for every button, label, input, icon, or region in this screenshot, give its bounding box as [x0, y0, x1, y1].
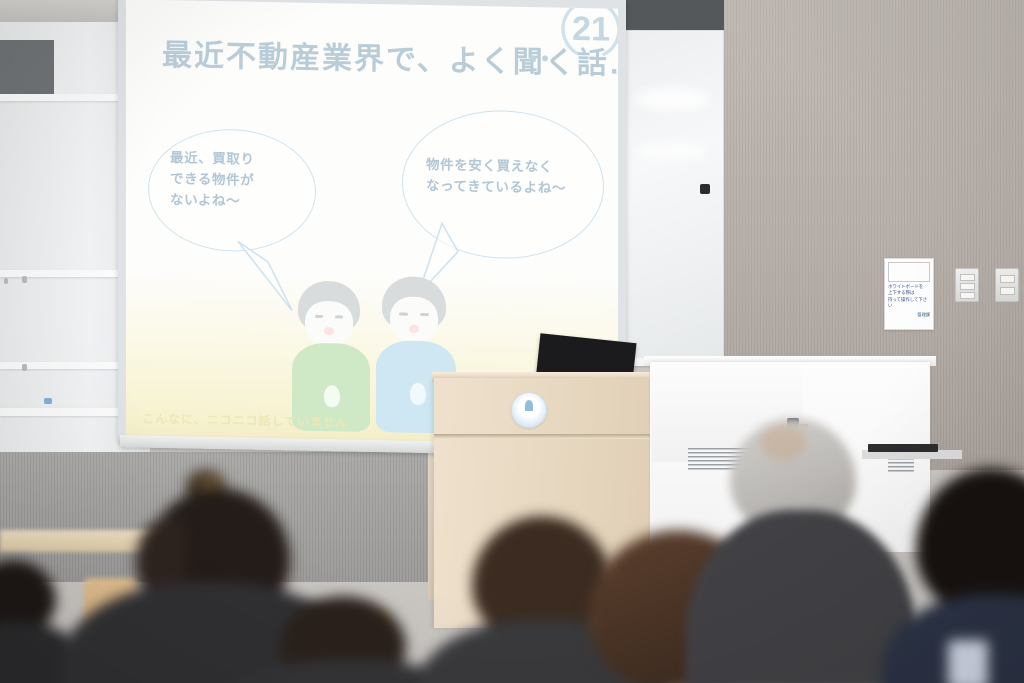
- whiteboard-clip-a: [4, 278, 8, 284]
- whiteboard-marker: [44, 398, 52, 404]
- cartoon-character-left: [292, 280, 370, 431]
- speech-bubble-right-text: 物件を安く買えなく なってきているよね〜: [426, 155, 604, 200]
- whiteboard-clip-b: [22, 276, 27, 283]
- audience-person-7: [906, 468, 1024, 683]
- whiteboard-clip-c: [22, 364, 27, 371]
- document-camera[interactable]: [900, 240, 1024, 472]
- whiteboard-glare-upper: [636, 88, 710, 110]
- audience-person-6: [700, 418, 900, 683]
- whiteboard-gap-dark: [0, 40, 54, 96]
- lectern-seal-emblem: [525, 400, 533, 411]
- lecture-hall-scene: 21 最近不動産業界で、よく聞く話… 最近、買取り できる物件が ないよね〜 物…: [0, 0, 1024, 683]
- speech-bubble-left-text: 最近、買取り できる物件が ないよね〜: [170, 148, 310, 213]
- lectern-trim: [434, 434, 658, 439]
- title-dot-2: [542, 55, 548, 61]
- whiteboard-glare-lower: [636, 142, 706, 160]
- title-dot-1: [530, 55, 536, 61]
- slide-title: 最近不動産業界で、よく聞く話…: [162, 30, 592, 82]
